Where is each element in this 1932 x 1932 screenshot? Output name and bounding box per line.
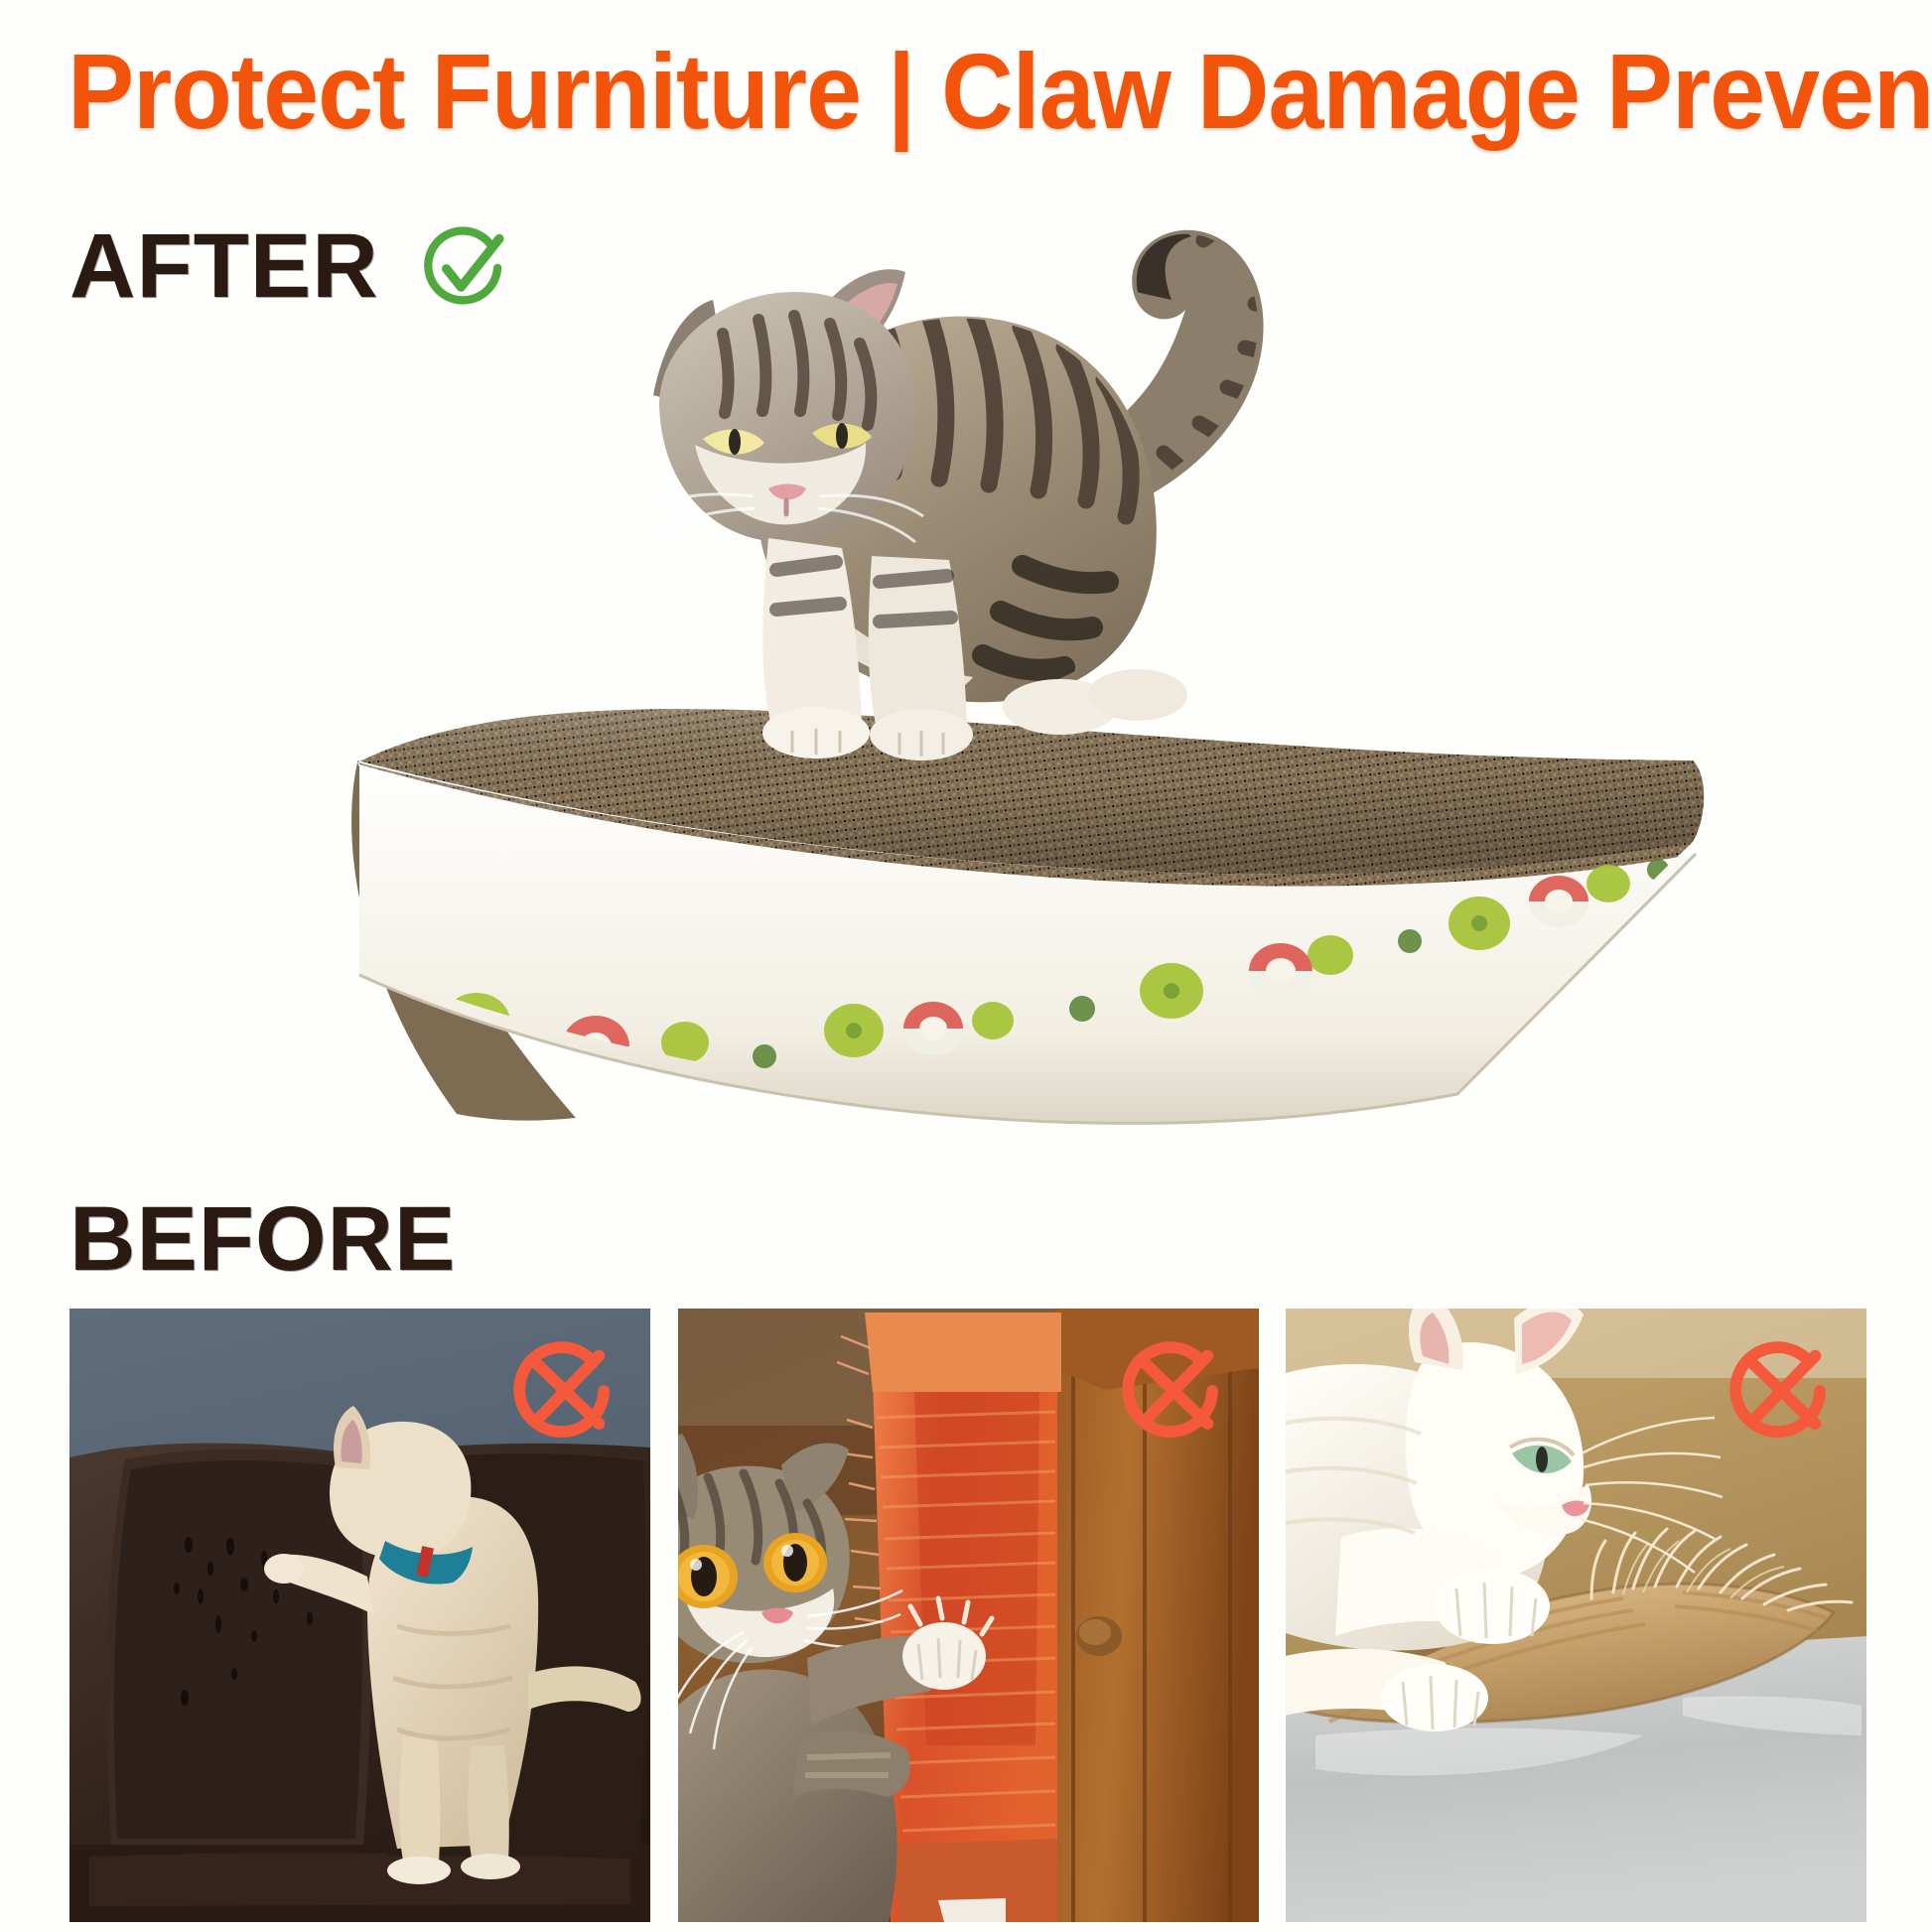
x-circle-icon	[505, 1332, 622, 1449]
before-label-text: BEFORE	[69, 1193, 456, 1285]
before-panel-sofa	[69, 1309, 650, 1922]
product-marketing-image: Protect Furniture | Claw Damage Preventi…	[0, 0, 1932, 1932]
x-circle-icon	[1722, 1332, 1839, 1449]
cat-on-scratcher-illustration	[556, 169, 1311, 903]
before-panels-row	[0, 1309, 1932, 1924]
x-circle-icon	[1114, 1332, 1231, 1449]
page-title: Protect Furniture | Claw Damage Preventi…	[68, 38, 1864, 145]
before-panel-scratch-post	[678, 1309, 1259, 1922]
after-hero-scene	[0, 199, 1932, 1191]
before-panel-rug	[1286, 1309, 1866, 1922]
cat-eye-right-2	[763, 1533, 827, 1592]
before-section-label: BEFORE	[69, 1193, 456, 1285]
